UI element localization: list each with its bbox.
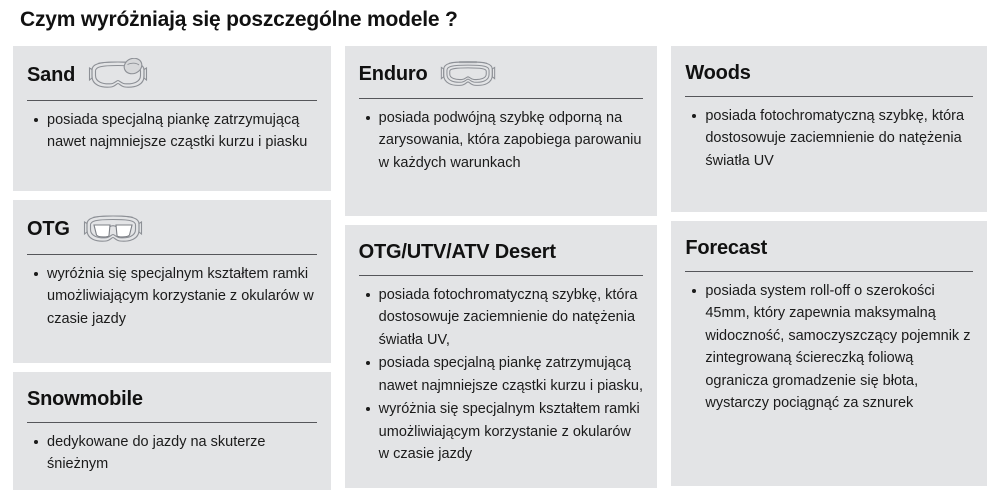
list-item: posiada podwójną szybkę odporną na zarys…: [379, 107, 644, 174]
goggles-otg-icon: [82, 212, 144, 246]
card-header: Enduro: [359, 58, 644, 90]
card-forecast: Forecast posiada system roll-off o szero…: [671, 221, 987, 486]
card-divider: [359, 98, 644, 99]
feature-list: posiada specjalną piankę zatrzymującą na…: [27, 109, 317, 154]
column-middle: Enduro: [345, 46, 658, 488]
card-title: Sand: [27, 64, 75, 86]
card-title: Enduro: [359, 63, 428, 85]
card-header: Sand: [27, 58, 317, 92]
card-snowmobile: Snowmobile dedykowane do jazdy na skuter…: [13, 372, 331, 490]
card-title: Forecast: [685, 237, 767, 259]
feature-list: dedykowane do jazdy na skuterze śnieżnym: [27, 431, 317, 476]
feature-list: posiada system roll-off o szerokości 45m…: [685, 280, 973, 415]
goggles-enduro-icon: [439, 58, 497, 90]
feature-list: posiada fotochromatyczną szybkę, która d…: [685, 105, 973, 172]
card-enduro: Enduro: [345, 46, 658, 216]
feature-list: posiada podwójną szybkę odporną na zarys…: [359, 107, 644, 174]
card-divider: [27, 422, 317, 423]
feature-list: wyróżnia się specjalnym kształtem ramki …: [27, 263, 317, 330]
card-otg-utv-atv-desert: OTG/UTV/ATV Desert posiada fotochromatyc…: [345, 225, 658, 488]
card-header: OTG/UTV/ATV Desert: [359, 237, 644, 267]
list-item: wyróżnia się specjalnym kształtem ramki …: [47, 263, 317, 330]
card-title: OTG: [27, 218, 70, 240]
card-divider: [359, 275, 644, 276]
goggles-sand-icon: [87, 58, 149, 92]
list-item: dedykowane do jazdy na skuterze śnieżnym: [47, 431, 317, 476]
card-title: OTG/UTV/ATV Desert: [359, 241, 556, 263]
card-sand: Sand: [13, 46, 331, 191]
card-divider: [685, 96, 973, 97]
card-header: Forecast: [685, 233, 973, 263]
card-woods: Woods posiada fotochromatyczną szybkę, k…: [671, 46, 987, 212]
card-otg: OTG: [13, 200, 331, 363]
card-header: Snowmobile: [27, 384, 317, 414]
card-header: Woods: [685, 58, 973, 88]
cards-grid: Sand: [13, 46, 987, 490]
card-divider: [685, 271, 973, 272]
card-title: Snowmobile: [27, 388, 143, 410]
card-divider: [27, 254, 317, 255]
list-item: posiada specjalną piankę zatrzymującą na…: [47, 109, 317, 154]
list-item: posiada specjalną piankę zatrzymującą na…: [379, 352, 644, 397]
list-item: wyróżnia się specjalnym kształtem ramki …: [379, 398, 644, 465]
list-item: posiada fotochromatyczną szybkę, która d…: [705, 105, 973, 172]
page-title: Czym wyróżniają się poszczególne modele …: [20, 8, 458, 32]
list-item: posiada fotochromatyczną szybkę, która d…: [379, 284, 644, 351]
card-header: OTG: [27, 212, 317, 246]
infographic-page: Czym wyróżniają się poszczególne modele …: [0, 0, 1000, 500]
card-title: Woods: [685, 62, 750, 84]
column-left: Sand: [13, 46, 331, 490]
card-divider: [27, 100, 317, 101]
list-item: posiada system roll-off o szerokości 45m…: [705, 280, 973, 415]
column-right: Woods posiada fotochromatyczną szybkę, k…: [671, 46, 987, 486]
feature-list: posiada fotochromatyczną szybkę, która d…: [359, 284, 644, 466]
